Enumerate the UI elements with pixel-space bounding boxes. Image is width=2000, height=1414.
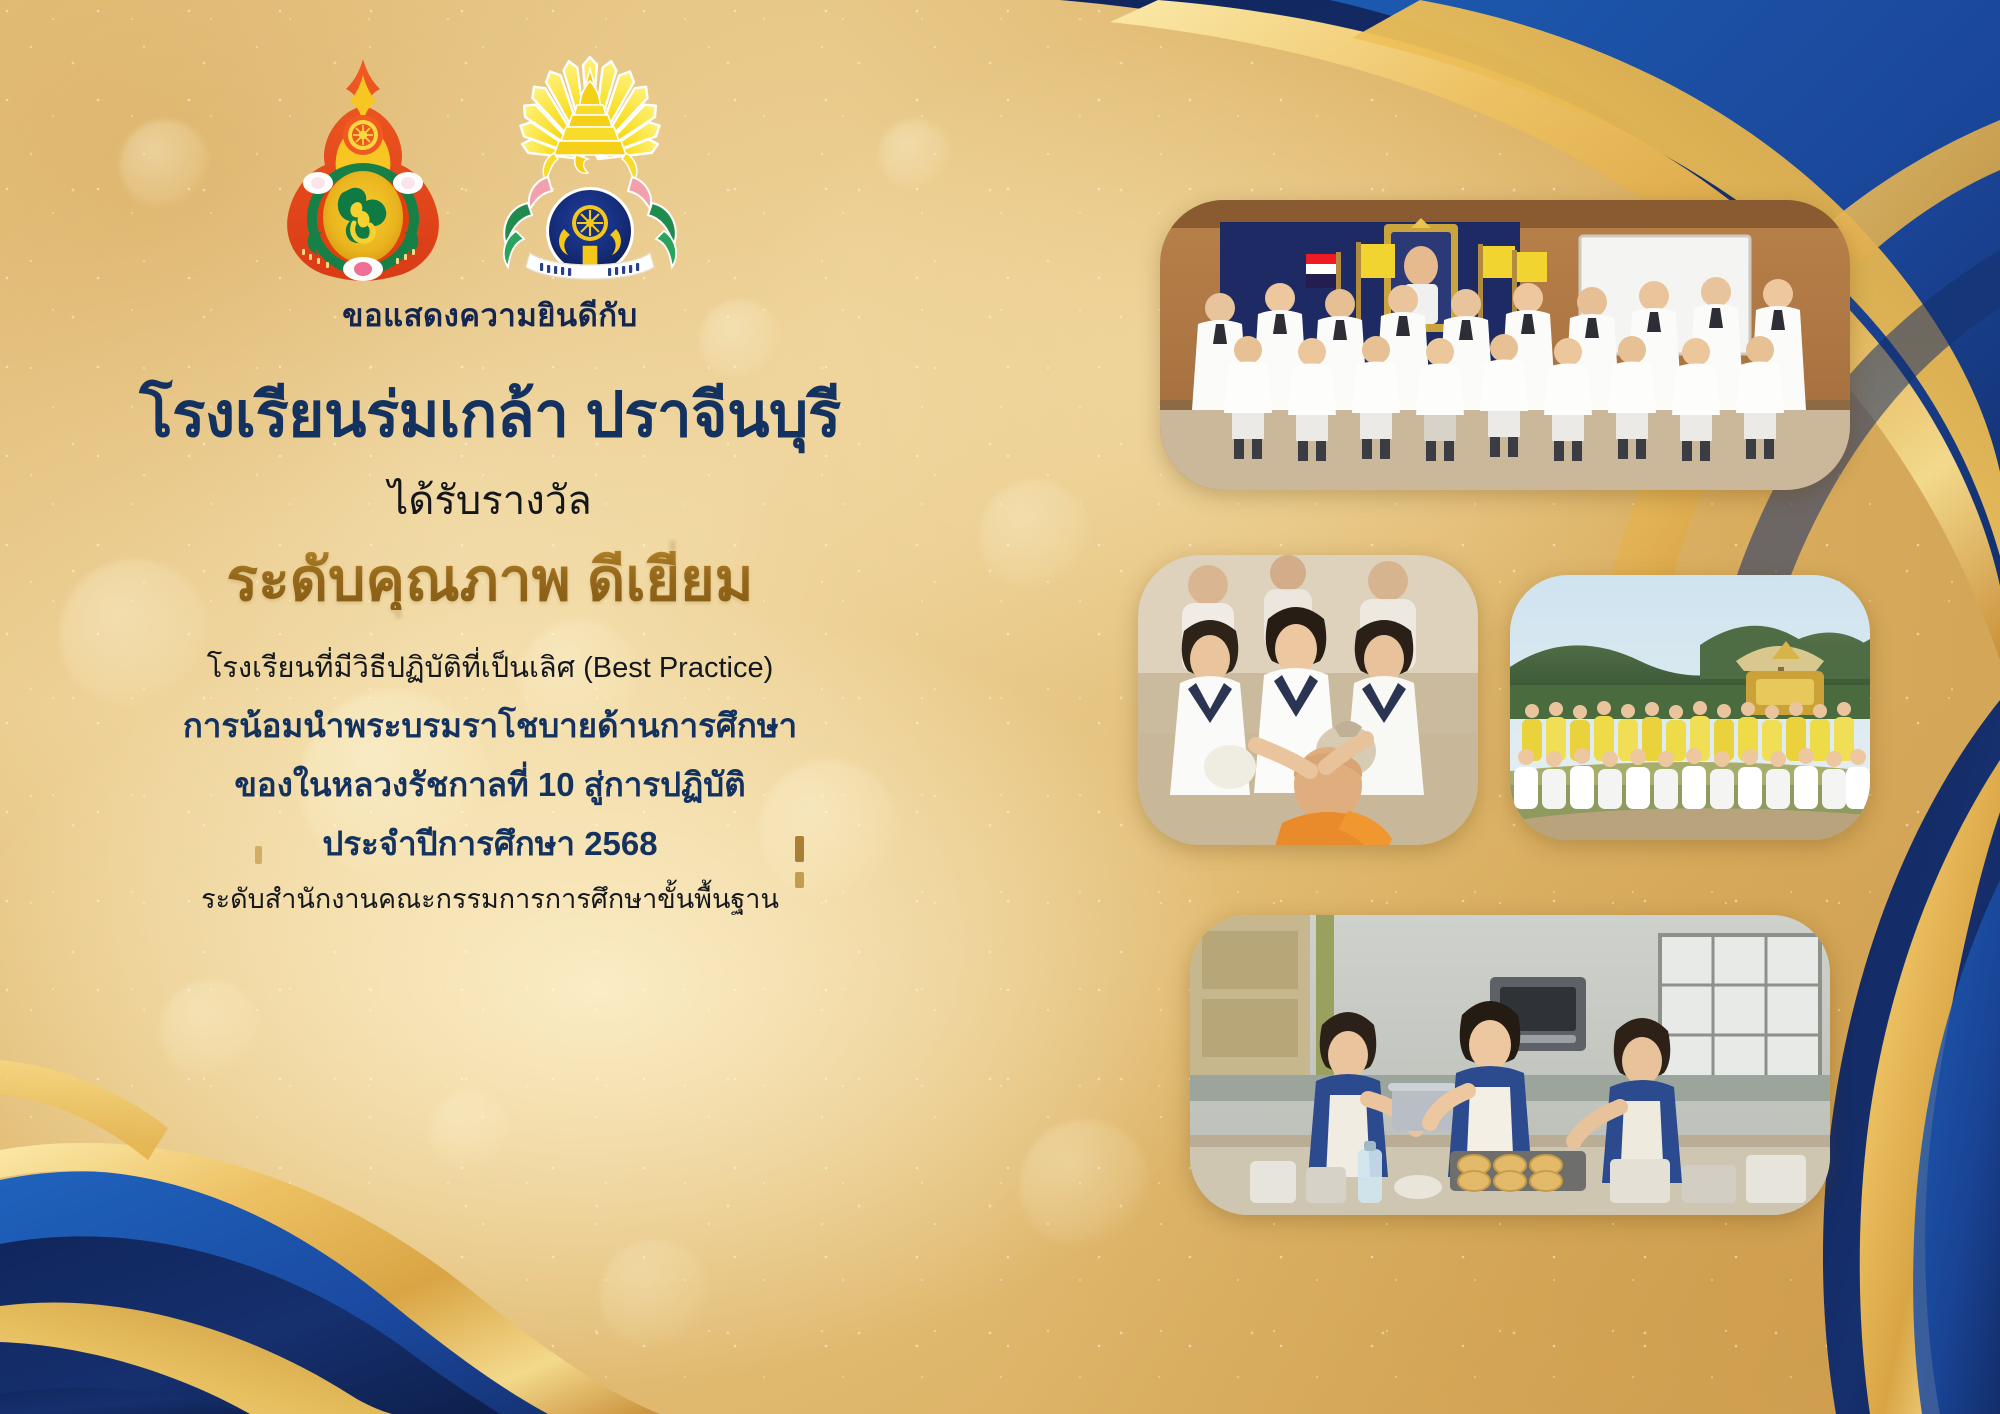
congratulations-text: ขอแสดงความยินดีกับ [0,300,980,331]
detail-line-king-rama-10: ของในหลวงรัชกาลที่ 10 สู่การปฏิบัติ [0,768,980,801]
photo-collage [1130,200,1870,1300]
photo-students-alms-offering [1138,555,1478,845]
detail-line-policy: การน้อมนำพระบรมราโชบายด้านการศึกษา [0,709,980,742]
photo-students-cooking-bakery [1190,915,1830,1215]
headline-block: ขอแสดงความยินดีกับ โรงเรียนร่มเกล้า ปราจ… [0,300,980,913]
photo-school-outdoor-group [1510,575,1870,840]
award-level-title: ระดับคุณภาพ ดีเยี่ยม [0,551,980,610]
obec-emblem: สำนักงานคณะกรรมการการศึกษาขั้นพื้นฐาน [268,53,458,288]
lotus-left [303,172,333,194]
emblem-row: สำนักงานคณะกรรมการการศึกษาขั้นพื้นฐาน [268,58,688,288]
detail-line-best-practice: โรงเรียนที่มีวิธีปฏิบัติที่เป็นเลิศ (Bes… [0,654,980,683]
detail-line-academic-year: ประจำปีการศึกษา 2568 [0,827,980,860]
lotus-right [393,172,423,194]
school-name-title: โรงเรียนร่มเกล้า ปราจีนบุรี [0,385,980,447]
baking-tray [1450,1151,1586,1191]
photo-staff-group-ceremony [1160,200,1850,490]
detail-line-obec-level: ระดับสำนักงานคณะกรรมการการศึกษาขั้นพื้นฐ… [0,886,980,913]
water-bottle [1358,1141,1382,1203]
school-emblem: โรงเรียนร่มเกล้า ปราจีนบุรี [490,53,690,288]
received-award-text: ได้รับรางวัล [0,481,980,521]
congratulation-banner: สำนักงานคณะกรรมการการศึกษาขั้นพื้นฐาน [0,0,2000,1414]
